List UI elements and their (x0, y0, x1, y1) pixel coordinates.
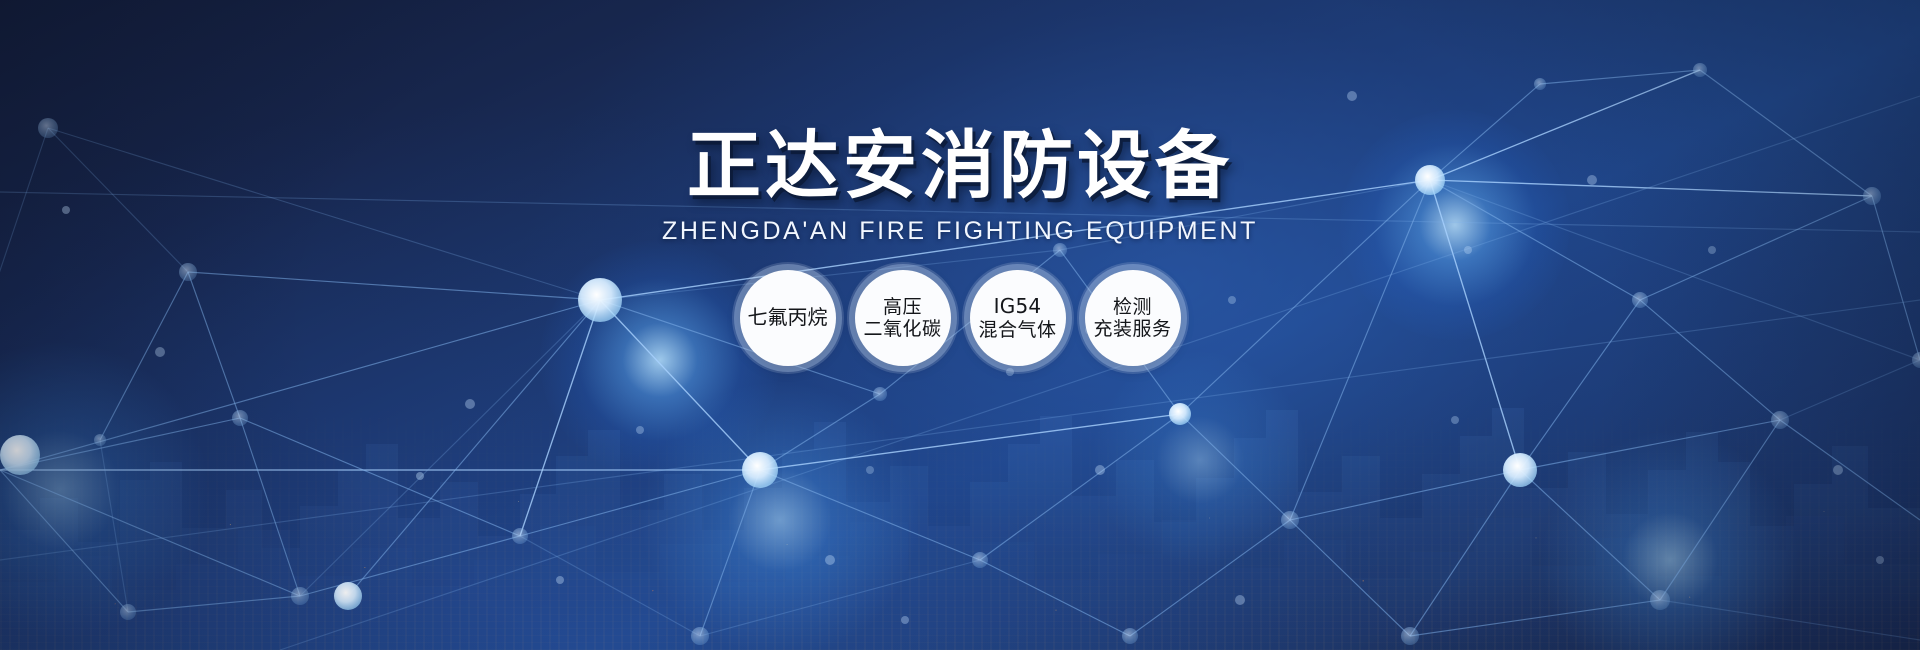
node-glow-center-right (1090, 350, 1310, 570)
city-window-lights (0, 320, 1920, 650)
badge-line-2: 二氧化碳 (863, 318, 941, 340)
hero-banner: 正达安消防设备 ZHENGDA'AN FIRE FIGHTING EQUIPME… (0, 0, 1920, 650)
badge-line-1: IG54 (994, 295, 1042, 319)
badge-line-1: 检测 (1113, 296, 1152, 318)
banner-content: 正达安消防设备 ZHENGDA'AN FIRE FIGHTING EQUIPME… (0, 0, 1920, 366)
node-glow-lower-center (640, 380, 920, 650)
node-glow-lower-right (1540, 430, 1800, 650)
badge-line-1: 高压 (883, 296, 922, 318)
product-badge[interactable]: 检测 充装服务 (1085, 270, 1181, 366)
product-badge[interactable]: IG54 混合气体 (970, 270, 1066, 366)
city-window-grid (0, 320, 1920, 650)
product-badge[interactable]: 七氟丙烷 (740, 270, 836, 366)
page-title: 正达安消防设备 (0, 129, 1920, 203)
node-glow-left (0, 340, 210, 640)
product-badge-list: 七氟丙烷 高压 二氧化碳 IG54 混合气体 检测 充装服务 (0, 270, 1920, 366)
badge-line-2: 充装服务 (1093, 318, 1171, 340)
page-subtitle: ZHENGDA'AN FIRE FIGHTING EQUIPMENT (0, 219, 1920, 244)
badge-line-2: 混合气体 (978, 319, 1056, 341)
badge-line-1: 七氟丙烷 (748, 306, 828, 330)
product-badge[interactable]: 高压 二氧化碳 (855, 270, 951, 366)
